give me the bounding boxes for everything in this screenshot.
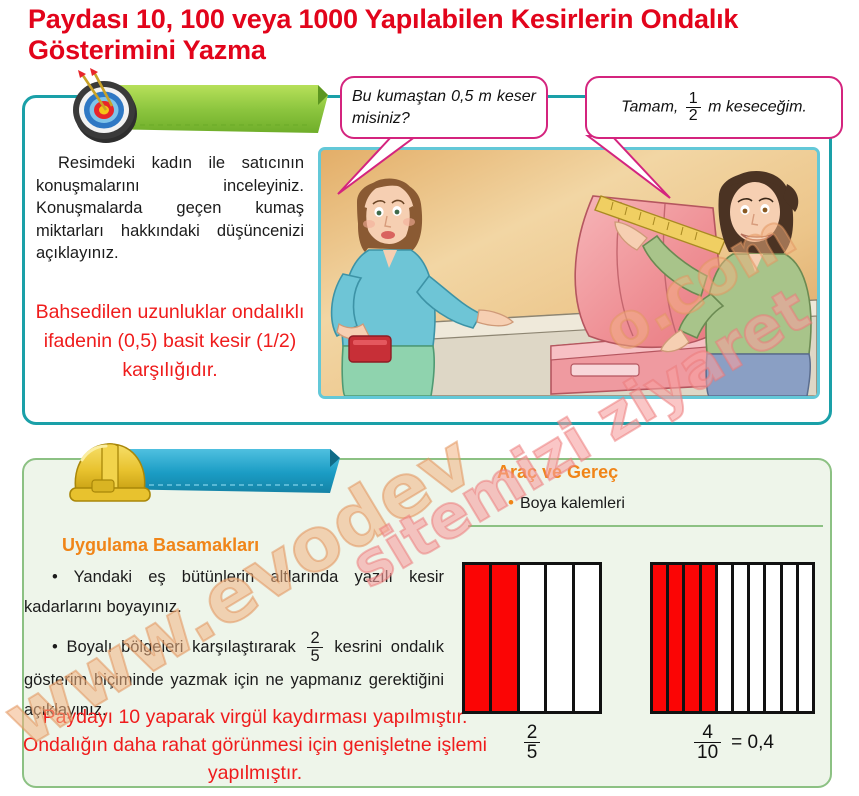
arac-item-label: Boya kalemleri [520,495,625,512]
fraction-bar-segment [734,565,750,711]
fraction-diagram-2-label: 4 10 = 0,4 [650,723,815,763]
fraction-bar-segment [492,565,519,711]
fraction-bar-segment [685,565,701,711]
etkinlik-answer: Paydayı 10 yaparak virgül kaydırması yap… [20,703,490,787]
fraction-bar-segment [653,565,669,711]
speech-bubble-shopkeeper-text: Tamam, 1 2 m keseceğim. [587,78,841,125]
fraction-bars-5 [462,562,602,714]
arac-list-item: •Boya kalemleri [508,493,625,513]
fraction-label-4-10: 4 10 [694,723,721,763]
fraction-bar-segment [799,565,812,711]
target-dartboard-icon [60,66,146,146]
step-1: • Yandaki eş bütünlerin altlarında yazıl… [24,562,444,622]
fraction-bar-segment [750,565,766,711]
bubble-tail-1 [330,130,450,202]
step-1-text: Yandaki eş bütünlerin altlarında yazılı … [24,568,444,616]
hard-hat-icon [62,436,158,508]
uygulama-basamaklari-heading: Uygulama Basamakları [62,535,259,556]
fraction-diagram-1-label: 2 5 [462,723,602,763]
fraction-bar-segment [766,565,782,711]
bullet-icon: • [508,493,514,512]
bubble-tail-2 [560,130,690,208]
fraction-bars-10 [650,562,815,714]
fraction-bar-segment [547,565,574,711]
arac-ve-gerec-heading: Araç ve Gereç [497,462,618,483]
fraction-equals-decimal: = 0,4 [731,732,774,754]
fraction-bar-segment [465,565,492,711]
step-2-text-before: Boyalı bölgeleri karşılaştırarak [67,638,296,656]
fraction-bar-segment [575,565,599,711]
speech-bubble-customer: Bu kumaştan 0,5 m keser misiniz? [340,76,548,139]
bullet-icon: • [52,638,58,656]
arac-divider [468,525,823,527]
motivasyon-answer: Bahsedilen uzunluklar ondalıklı ifadenin… [24,298,316,385]
fraction-bar-segment [520,565,547,711]
fraction-one-half: 1 2 [686,91,701,125]
page-title: Paydası 10, 100 veya 1000 Yapılabilen Ke… [28,4,838,66]
speech-bubble-shopkeeper: Tamam, 1 2 m keseceğim. [585,76,843,139]
fraction-bar-segment [718,565,734,711]
bubble2-text-before: Tamam, [621,99,678,116]
speech-bubble-customer-text: Bu kumaştan 0,5 m keser misiniz? [342,78,546,130]
textbook-page: Paydası 10, 100 veya 1000 Yapılabilen Ke… [0,0,859,796]
fraction-bar-segment [702,565,718,711]
bullet-icon: • [52,568,58,586]
fraction-diagram-2-5: 2 5 [462,562,602,763]
bubble2-text-after: m keseceğim. [708,99,807,116]
fraction-bar-segment [783,565,799,711]
fraction-label-2-5: 2 5 [524,723,541,763]
fraction-two-fifths: 2 5 [307,630,322,665]
motivasyon-paragraph-text: Resimdeki kadın ile satıcının konuşmalar… [36,154,304,262]
fraction-bar-segment [669,565,685,711]
fraction-diagram-4-10: 4 10 = 0,4 [650,562,815,763]
motivasyon-paragraph: Resimdeki kadın ile satıcının konuşmalar… [36,152,304,265]
